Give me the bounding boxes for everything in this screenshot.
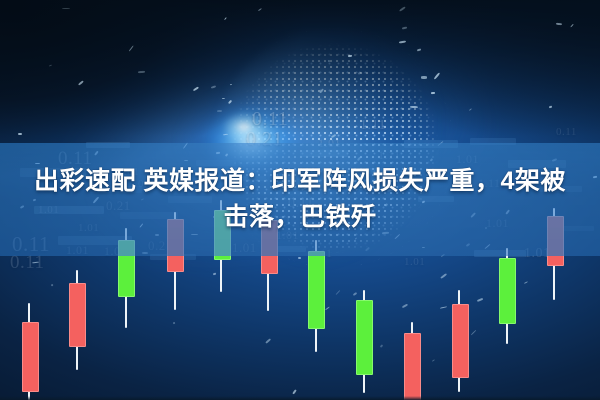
candlestick-body (356, 300, 373, 375)
screenshot-canvas: 0.110.110.111.011.011.010.211.010.111.01… (0, 0, 600, 400)
candlestick-body (404, 333, 421, 400)
candlestick-body (308, 251, 325, 329)
candlestick-body (499, 258, 516, 324)
bottom-edge-shadow (0, 396, 600, 400)
caption-line-1: 出彩速配 英媒报道：印军阵风损失严重，4架被 (34, 167, 566, 197)
candlestick-body (22, 322, 39, 392)
caption-text-block: 出彩速配 英媒报道：印军阵风损失严重，4架被 击落，巴铁歼 (0, 143, 600, 256)
candlestick-body (69, 283, 86, 347)
caption-line-2: 击落，巴铁歼 (223, 203, 376, 233)
candlestick-body (452, 304, 469, 378)
